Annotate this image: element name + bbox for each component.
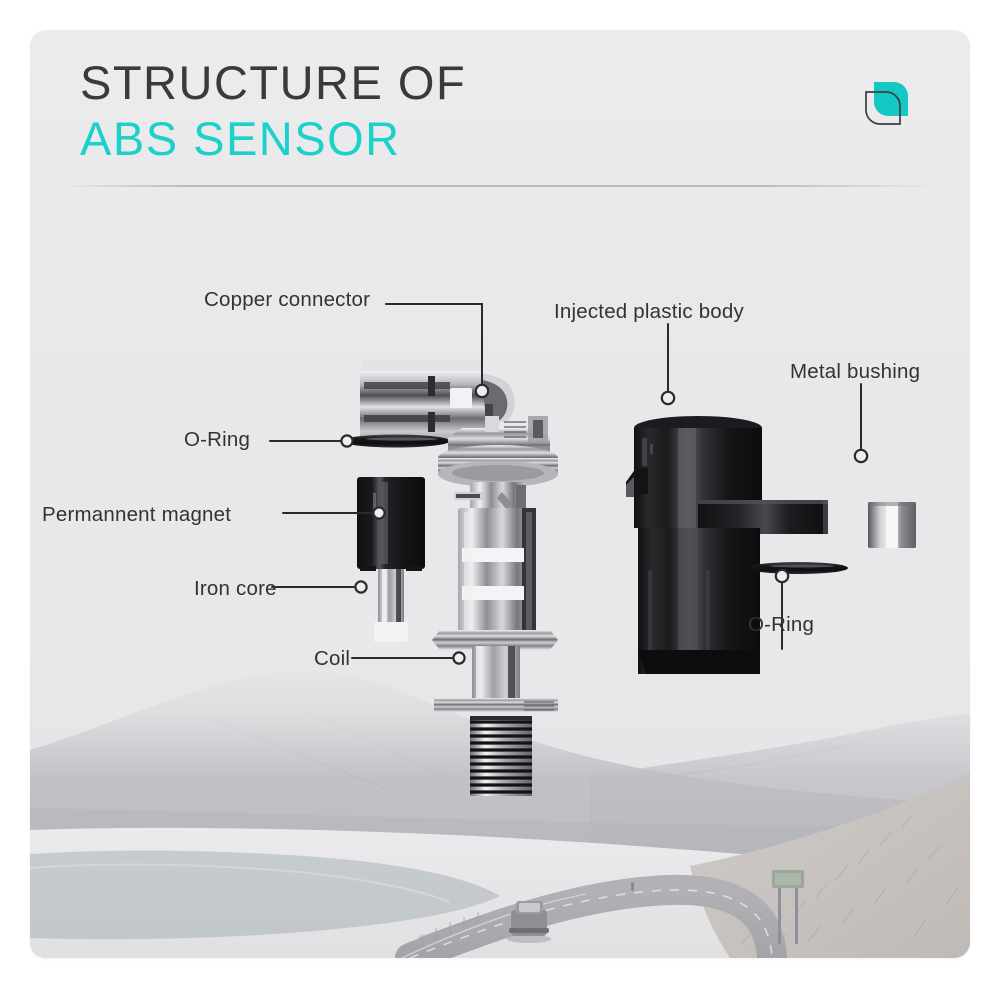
label-coil: Coil bbox=[314, 647, 350, 671]
exploded-diagram: Copper connector O-Ring Permannent magne… bbox=[30, 30, 970, 958]
infographic-card: STRUCTURE OF ABS SENSOR bbox=[30, 30, 970, 958]
label-o-ring-right: O-Ring bbox=[748, 613, 814, 637]
screenshot-canvas: STRUCTURE OF ABS SENSOR bbox=[0, 0, 1000, 1000]
label-injected-plastic-body: Injected plastic body bbox=[554, 300, 744, 324]
label-iron-core: Iron core bbox=[194, 577, 277, 601]
label-o-ring-left: O-Ring bbox=[184, 428, 250, 452]
label-copper-connector: Copper connector bbox=[204, 288, 370, 312]
label-permanent-magnet: Permannent magnet bbox=[42, 503, 231, 527]
label-metal-bushing: Metal bushing bbox=[790, 360, 920, 384]
